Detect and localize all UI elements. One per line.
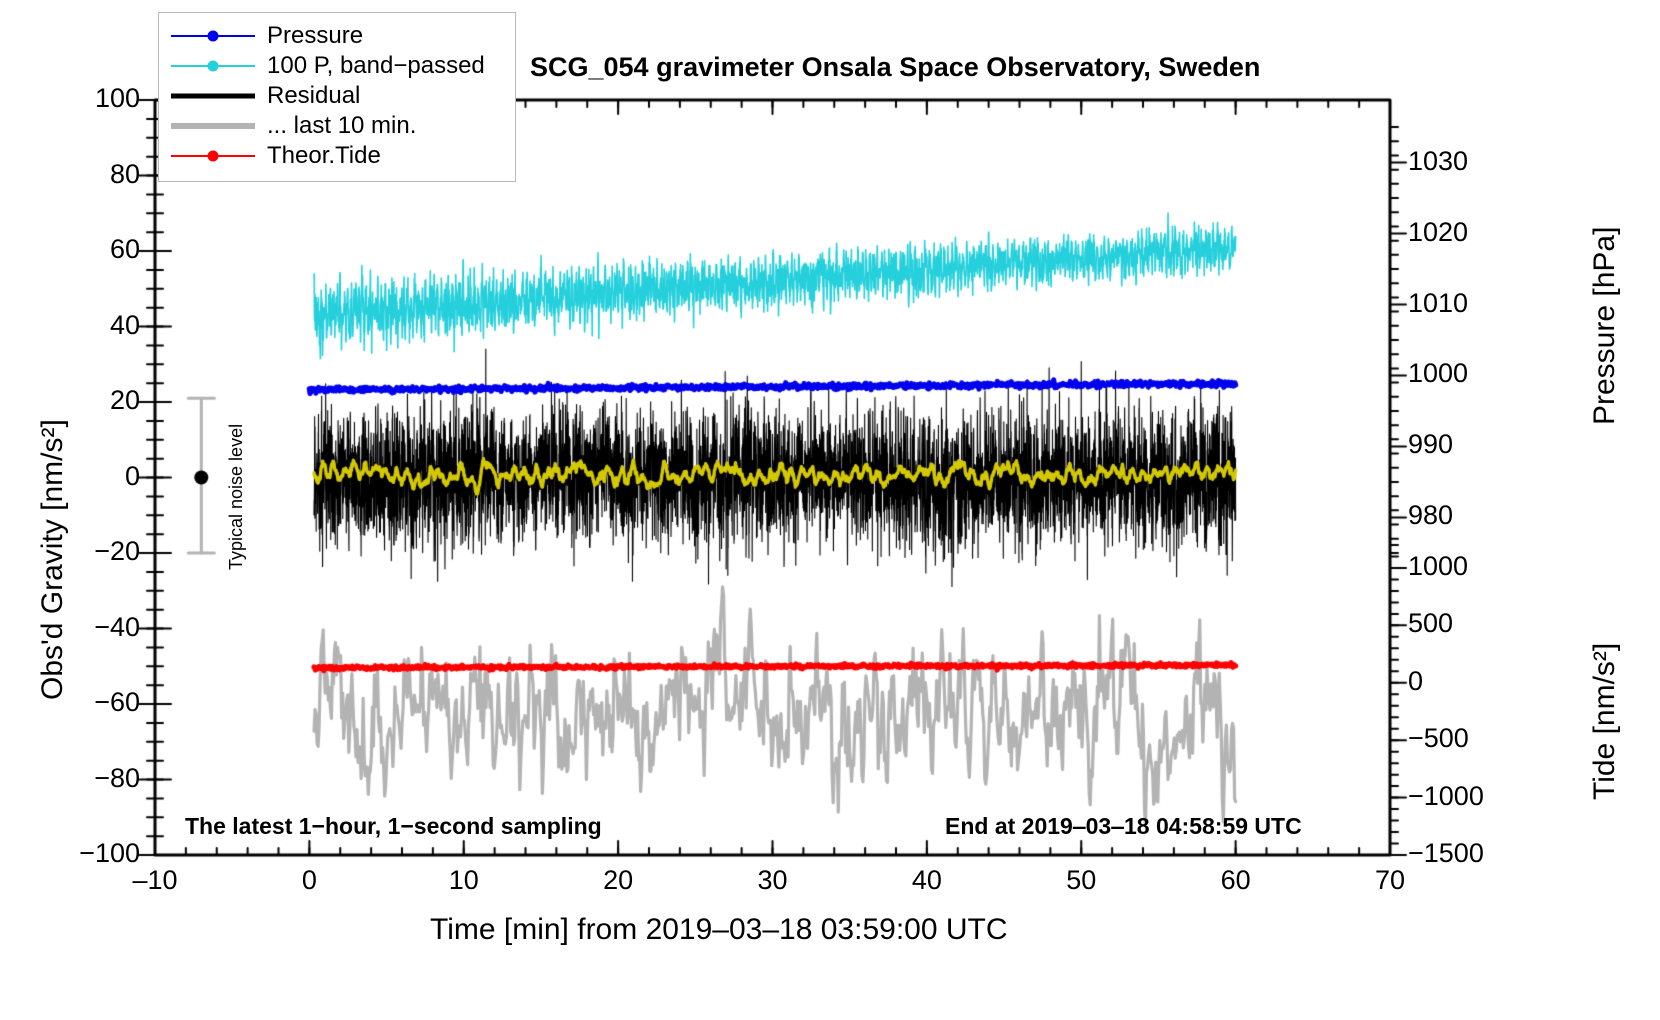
x-tick-label: 50 xyxy=(1066,865,1096,896)
x-tick-label: 70 xyxy=(1375,865,1405,896)
legend-item[interactable]: Pressure xyxy=(165,21,509,51)
legend-item-label: Residual xyxy=(261,82,360,110)
sampling-note: The latest 1−hour, 1−second sampling xyxy=(185,813,602,840)
legend-item-label: Theor.Tide xyxy=(261,142,381,170)
y-tick-label: 100 xyxy=(0,83,140,114)
legend: Pressure100 P, band−passedResidual... la… xyxy=(158,12,516,182)
legend-swatch-icon xyxy=(165,111,261,141)
tide-tick-label: −1000 xyxy=(1408,781,1484,812)
legend-item[interactable]: ... last 10 min. xyxy=(165,111,509,141)
pressure-tick-label: 990 xyxy=(1408,429,1453,460)
y-tick-label: 40 xyxy=(0,310,140,341)
pressure-tick-label: 1030 xyxy=(1408,146,1468,177)
x-tick-label: 20 xyxy=(603,865,633,896)
y-tick-label: −80 xyxy=(0,763,140,794)
tide-tick-label: 1000 xyxy=(1408,551,1468,582)
legend-item[interactable]: 100 P, band−passed xyxy=(165,51,509,81)
pressure-tick-label: 1020 xyxy=(1408,217,1468,248)
tide-axis-title: Tide [nm/s²] xyxy=(1588,643,1622,800)
tide-tick-label: −1500 xyxy=(1408,838,1484,869)
legend-item-label: 100 P, band−passed xyxy=(261,52,485,80)
page-title: SCG_054 gravimeter Onsala Space Observat… xyxy=(530,52,1260,83)
x-tick-label: 40 xyxy=(912,865,942,896)
tide-tick-label: 500 xyxy=(1408,608,1453,639)
x-tick-label: ‒10 xyxy=(133,865,178,896)
end-time-note: End at 2019‒03‒18 04:58:59 UTC xyxy=(945,813,1302,840)
pressure-tick-label: 1000 xyxy=(1408,358,1468,389)
pressure-tick-label: 980 xyxy=(1408,500,1453,531)
y-tick-label: 0 xyxy=(0,461,140,492)
legend-marker-icon xyxy=(208,31,219,42)
y-tick-label: −40 xyxy=(0,612,140,643)
y-tick-label: −100 xyxy=(0,838,140,869)
x-tick-label: 0 xyxy=(302,865,317,896)
x-tick-label: 10 xyxy=(449,865,479,896)
x-tick-label: 30 xyxy=(758,865,788,896)
x-axis-title: Time [min] from 2019‒03‒18 03:59:00 UTC xyxy=(430,913,1008,947)
legend-item[interactable]: Theor.Tide xyxy=(165,141,509,171)
tide-tick-label: −500 xyxy=(1408,723,1469,754)
legend-swatch-icon xyxy=(165,141,261,171)
pressure-axis-title: Pressure [hPa] xyxy=(1588,227,1622,425)
y-tick-label: 80 xyxy=(0,159,140,190)
noise-level-label: Typical noise level xyxy=(226,424,247,570)
legend-item[interactable]: Residual xyxy=(165,81,509,111)
legend-item-label: ... last 10 min. xyxy=(261,112,416,140)
legend-swatch-icon xyxy=(165,51,261,81)
y-tick-label: −20 xyxy=(0,536,140,567)
tide-tick-label: 0 xyxy=(1408,666,1423,697)
chart-root: SCG_054 gravimeter Onsala Space Observat… xyxy=(0,0,1660,1020)
x-tick-label: 60 xyxy=(1221,865,1251,896)
y-tick-label: −60 xyxy=(0,687,140,718)
legend-item-label: Pressure xyxy=(261,22,363,50)
legend-swatch-icon xyxy=(165,81,261,111)
y-tick-label: 20 xyxy=(0,385,140,416)
y-tick-label: 60 xyxy=(0,234,140,265)
legend-swatch-icon xyxy=(165,21,261,51)
legend-marker-icon xyxy=(208,61,219,72)
pressure-tick-label: 1010 xyxy=(1408,288,1468,319)
legend-marker-icon xyxy=(208,151,219,162)
